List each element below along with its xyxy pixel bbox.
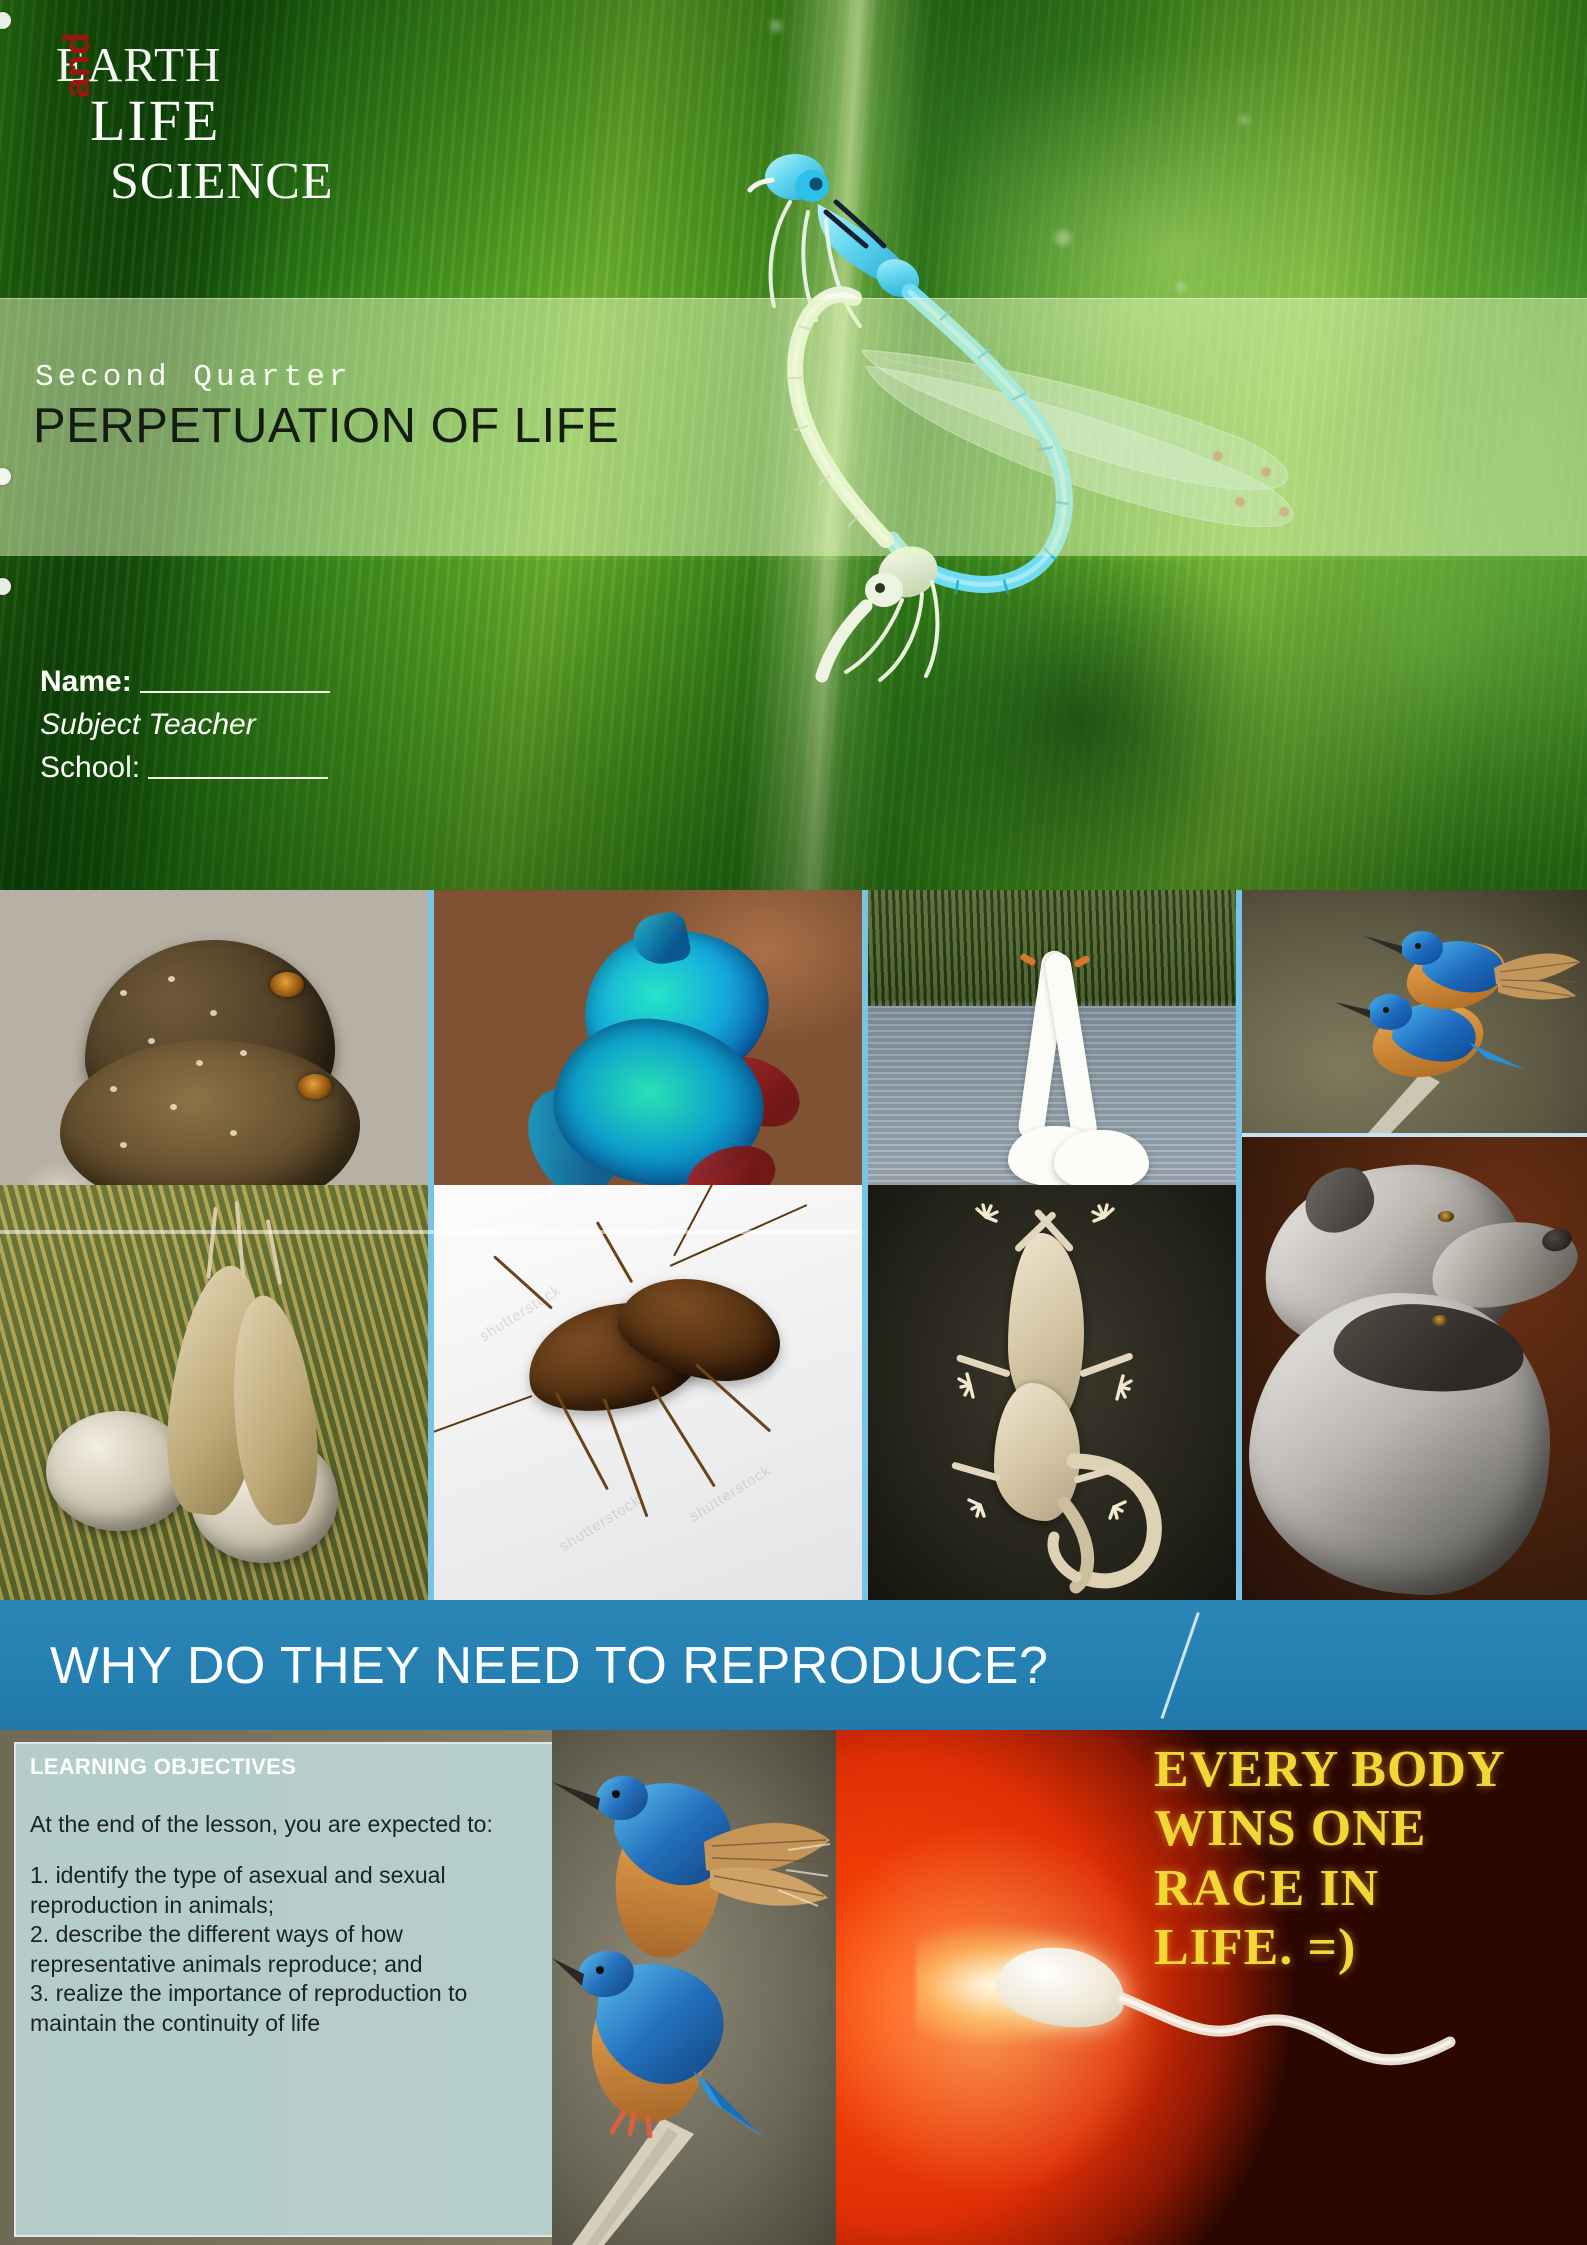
snail-antenna — [206, 1207, 218, 1279]
photo-kingfisher-pair — [1242, 890, 1587, 1140]
photo-fertilization-poster: EVERY BODY WINS ONE RACE IN LIFE. =) — [836, 1730, 1587, 2245]
field-school-line[interactable] — [148, 777, 328, 779]
objective-item: 1. identify the type of asexual and sexu… — [30, 1861, 538, 1920]
poster-line: WINS ONE — [1154, 1799, 1584, 1858]
kingfisher-pair-svg — [1242, 890, 1587, 1140]
header-leaf-photo: EARTH and LIFE SCIENCE Second Quarter PE… — [0, 0, 1587, 890]
photo-wolf-pair — [1242, 1137, 1587, 1600]
poster-line: EVERY BODY — [1154, 1740, 1584, 1799]
grid-seam — [1236, 890, 1242, 1137]
info-fields: Name: Subject Teacher School: — [40, 665, 330, 794]
animal-photo-grid: ©Joseph Tepper — [0, 890, 1587, 1600]
grid-seam — [862, 1185, 868, 1600]
grid-seam — [862, 890, 868, 1230]
wolf-eye — [1438, 1211, 1454, 1222]
objective-item: 3. realize the importance of reproductio… — [30, 1979, 538, 2038]
field-subject-teacher-label: Subject Teacher — [40, 708, 256, 742]
course-logo: EARTH and LIFE SCIENCE — [28, 18, 458, 218]
gecko-feet-svg — [868, 1185, 1236, 1600]
poster-text: EVERY BODY WINS ONE RACE IN LIFE. =) — [1154, 1740, 1584, 1977]
poster-line: LIFE. =) — [1154, 1918, 1584, 1977]
grid-seam — [1242, 1133, 1587, 1137]
bottom-section: LEARNING OBJECTIVES At the end of the le… — [0, 1730, 1587, 2245]
slide-page: EARTH and LIFE SCIENCE Second Quarter PE… — [0, 0, 1587, 2245]
field-subject-teacher[interactable]: Subject Teacher — [40, 708, 330, 742]
kingfisher-bottom-svg — [552, 1730, 836, 2245]
field-name-label: Name: — [40, 665, 132, 699]
photo-gecko-pair — [868, 1185, 1236, 1600]
photo-kingfisher-pair-bottom — [552, 1730, 836, 2245]
banner-question: WHY DO THEY NEED TO REPRODUCE? — [50, 1636, 1048, 1696]
field-school[interactable]: School: — [40, 751, 330, 785]
photo-swan-pair — [868, 890, 1236, 1230]
toad-eye — [298, 1074, 332, 1099]
section-banner: WHY DO THEY NEED TO REPRODUCE? — [0, 1600, 1587, 1730]
poster-line: RACE IN — [1154, 1859, 1584, 1918]
page-title: PERPETUATION OF LIFE — [33, 398, 619, 454]
objectives-intro: At the end of the lesson, you are expect… — [30, 1810, 538, 1839]
leaf-highlight-dot — [770, 20, 782, 32]
wolf-eye — [1432, 1315, 1448, 1326]
logo-line-life: LIFE — [90, 92, 220, 150]
field-name[interactable]: Name: — [40, 665, 330, 699]
banner-slash-decoration — [1161, 1612, 1200, 1719]
grid-seam — [0, 1230, 862, 1234]
logo-line-science: SCIENCE — [110, 156, 334, 208]
objective-item: 2. describe the different ways of how re… — [30, 1920, 538, 1979]
grid-seam — [1236, 1137, 1242, 1600]
quarter-label: Second Quarter — [35, 360, 351, 395]
field-name-line[interactable] — [140, 691, 330, 693]
field-school-label: School: — [40, 751, 140, 785]
photo-cockroach-pair: shutterstock shutterstock shutterstock — [434, 1185, 862, 1600]
learning-objectives-body: At the end of the lesson, you are expect… — [30, 1810, 538, 2038]
photo-toad-pair — [0, 890, 428, 1230]
photo-snail-pair — [0, 1185, 428, 1600]
learning-objectives-title: LEARNING OBJECTIVES — [30, 1754, 538, 1780]
learning-objectives-panel: LEARNING OBJECTIVES At the end of the le… — [14, 1742, 554, 2237]
swan-body — [1054, 1130, 1149, 1190]
photo-mandarin-fish-pair: ©Joseph Tepper — [434, 890, 862, 1230]
grid-seam — [428, 890, 434, 1230]
grid-seam — [428, 1185, 434, 1600]
toad-eye — [270, 972, 304, 997]
